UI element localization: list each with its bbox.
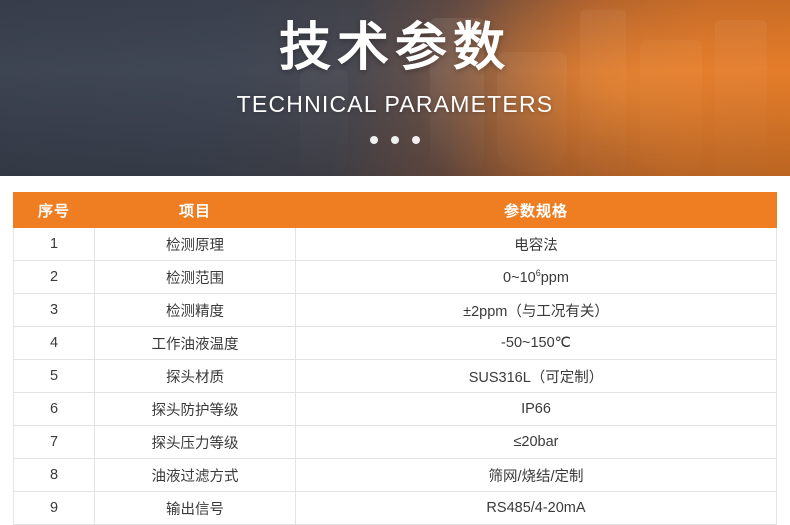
cell-index: 6: [14, 393, 95, 426]
dot-icon: [412, 136, 420, 144]
table-row: 3检测精度±2ppm（与工况有关）: [14, 294, 777, 327]
cell-spec: SUS316L（可定制）: [296, 360, 777, 393]
dot-icon: [370, 136, 378, 144]
dot-icon: [391, 136, 399, 144]
cell-index: 9: [14, 492, 95, 525]
column-header-index: 序号: [14, 193, 95, 228]
cell-spec: 筛网/烧结/定制: [296, 459, 777, 492]
cell-item: 检测精度: [95, 294, 296, 327]
cell-index: 5: [14, 360, 95, 393]
spec-table-body: 1检测原理电容法2检测范围0~106ppm3检测精度±2ppm（与工况有关）4工…: [14, 228, 777, 525]
table-header-row: 序号 项目 参数规格: [14, 193, 777, 228]
cell-index: 3: [14, 294, 95, 327]
cell-item: 油液过滤方式: [95, 459, 296, 492]
cell-item: 检测原理: [95, 228, 296, 261]
table-row: 4工作油液温度-50~150℃: [14, 327, 777, 360]
column-header-item: 项目: [95, 193, 296, 228]
cell-item: 工作油液温度: [95, 327, 296, 360]
cell-spec: ≤20bar: [296, 426, 777, 459]
cell-spec: 0~106ppm: [296, 261, 777, 294]
spec-table: 序号 项目 参数规格 1检测原理电容法2检测范围0~106ppm3检测精度±2p…: [13, 192, 777, 525]
page-subtitle: TECHNICAL PARAMETERS: [237, 91, 554, 118]
page-title: 技术参数: [279, 16, 511, 81]
spec-prefix: 0~10: [503, 270, 536, 286]
cell-spec: -50~150℃: [296, 327, 777, 360]
spec-table-head: 序号 项目 参数规格: [14, 193, 777, 228]
table-row: 9输出信号RS485/4-20mA: [14, 492, 777, 525]
banner-content: 技术参数 TECHNICAL PARAMETERS: [0, 0, 790, 176]
table-row: 6探头防护等级IP66: [14, 393, 777, 426]
spec-table-wrapper: 序号 项目 参数规格 1检测原理电容法2检测范围0~106ppm3检测精度±2p…: [0, 176, 790, 525]
table-row: 7探头压力等级≤20bar: [14, 426, 777, 459]
page-banner: 技术参数 TECHNICAL PARAMETERS: [0, 0, 790, 176]
column-header-spec: 参数规格: [296, 193, 777, 228]
cell-index: 7: [14, 426, 95, 459]
cell-item: 探头防护等级: [95, 393, 296, 426]
cell-item: 探头材质: [95, 360, 296, 393]
table-row: 1检测原理电容法: [14, 228, 777, 261]
cell-index: 2: [14, 261, 95, 294]
cell-spec: ±2ppm（与工况有关）: [296, 294, 777, 327]
cell-index: 4: [14, 327, 95, 360]
table-row: 8油液过滤方式筛网/烧结/定制: [14, 459, 777, 492]
decorative-dots: [370, 136, 420, 144]
cell-spec: IP66: [296, 393, 777, 426]
table-row: 5探头材质SUS316L（可定制）: [14, 360, 777, 393]
cell-spec: 电容法: [296, 228, 777, 261]
cell-item: 探头压力等级: [95, 426, 296, 459]
spec-suffix: ppm: [541, 270, 569, 286]
cell-spec: RS485/4-20mA: [296, 492, 777, 525]
cell-item: 检测范围: [95, 261, 296, 294]
cell-index: 1: [14, 228, 95, 261]
table-row: 2检测范围0~106ppm: [14, 261, 777, 294]
cell-item: 输出信号: [95, 492, 296, 525]
cell-index: 8: [14, 459, 95, 492]
